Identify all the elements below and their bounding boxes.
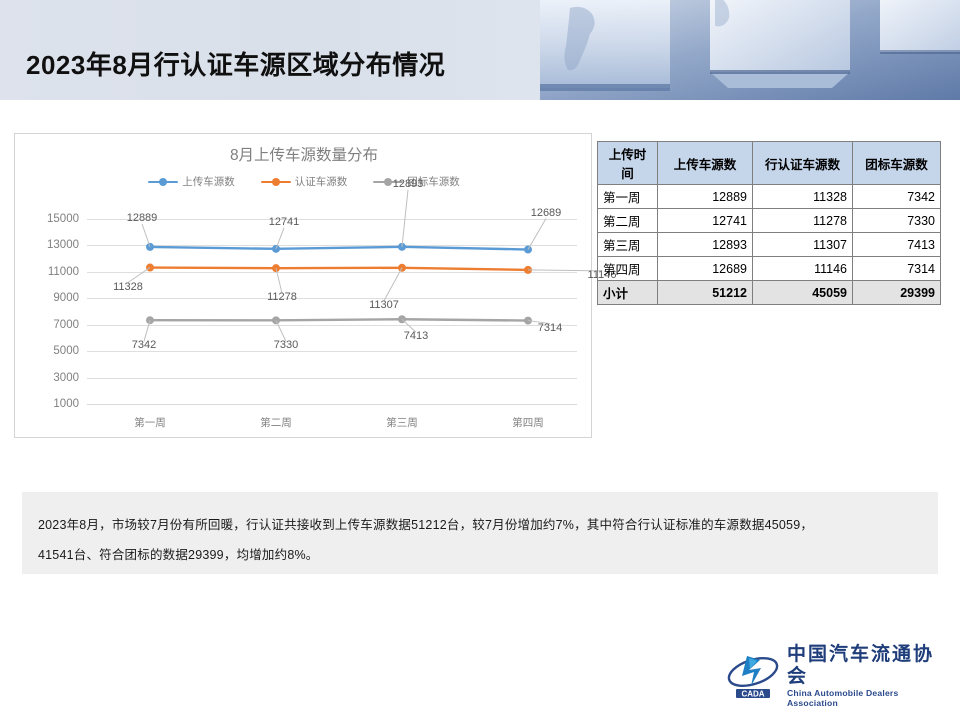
data-label-leader-line bbox=[144, 320, 150, 341]
chart-x-axis-line bbox=[87, 404, 577, 405]
data-label: 12741 bbox=[269, 216, 300, 228]
table-cell-cert: 11328 bbox=[753, 185, 853, 209]
table-cell-week: 第二周 bbox=[598, 209, 658, 233]
cada-logo-en: China Automobile Dealers Association bbox=[787, 688, 939, 709]
table-cell-upload: 12689 bbox=[658, 257, 753, 281]
table-total-group: 29399 bbox=[853, 281, 941, 305]
blue-cubes-world-map-image bbox=[540, 0, 960, 100]
legend-marker-upload-icon bbox=[148, 177, 178, 187]
data-label: 12893 bbox=[393, 178, 424, 190]
data-label: 11328 bbox=[113, 281, 143, 293]
table-total-row: 小计512124505929399 bbox=[598, 281, 941, 305]
y-axis-tick-label: 9000 bbox=[53, 292, 79, 304]
data-label-leader-line bbox=[276, 228, 284, 249]
table-cell-cert: 11278 bbox=[753, 209, 853, 233]
cada-mark-svg: CADA bbox=[727, 652, 779, 700]
table-header-cert: 行认证车源数 bbox=[753, 142, 853, 185]
data-label-leader-line bbox=[384, 268, 402, 301]
table-cell-week: 第四周 bbox=[598, 257, 658, 281]
cada-logo: CADA 中国汽车流通协会 China Automobile Dealers A… bbox=[727, 650, 939, 702]
summary-note-line-2: 41541台、符合团标的数据29399，均增加约8%。 bbox=[38, 540, 922, 570]
series-point bbox=[272, 245, 280, 253]
cada-logo-text: 中国汽车流通协会 China Automobile Dealers Associ… bbox=[787, 644, 939, 708]
cada-logo-icon: CADA bbox=[727, 652, 779, 700]
table-header-row: 上传时间 上传车源数 行认证车源数 团标车源数 bbox=[598, 142, 941, 185]
legend-label-upload: 上传车源数 bbox=[182, 174, 235, 189]
table-row: 第一周12889113287342 bbox=[598, 185, 941, 209]
table-cell-upload: 12893 bbox=[658, 233, 753, 257]
table-cell-group: 7330 bbox=[853, 209, 941, 233]
table-row: 第二周12741112787330 bbox=[598, 209, 941, 233]
data-label: 11278 bbox=[267, 291, 297, 303]
series-line bbox=[150, 247, 528, 250]
table-body: 第一周12889113287342第二周12741112787330第三周128… bbox=[598, 185, 941, 305]
y-axis-tick-label: 11000 bbox=[48, 266, 79, 278]
data-label-leader-line bbox=[402, 190, 408, 247]
series-point bbox=[398, 264, 406, 272]
chart-panel: 8月上传车源数量分布 上传车源数 认证车源数 团标车源数 15000130001… bbox=[14, 133, 592, 438]
header-band: 2023年8月行认证车源区域分布情况 bbox=[0, 0, 960, 100]
data-label: 7330 bbox=[274, 339, 298, 351]
x-axis-tick-label: 第一周 bbox=[134, 415, 166, 430]
table-total-upload: 51212 bbox=[658, 281, 753, 305]
data-label: 7342 bbox=[132, 339, 156, 351]
legend-marker-cert-icon bbox=[261, 177, 291, 187]
table-header-upload: 上传车源数 bbox=[658, 142, 753, 185]
table-row: 第四周12689111467314 bbox=[598, 257, 941, 281]
table-row: 第三周12893113077413 bbox=[598, 233, 941, 257]
cada-logo-cn: 中国汽车流通协会 bbox=[787, 644, 939, 688]
legend-item-cert[interactable]: 认证车源数 bbox=[261, 174, 348, 189]
data-label: 7314 bbox=[538, 322, 562, 334]
table-total-cert: 45059 bbox=[753, 281, 853, 305]
summary-note-line-1: 2023年8月，市场较7月份有所回暖，行认证共接收到上传车源数据51212台，较… bbox=[38, 510, 922, 540]
data-label: 12889 bbox=[127, 212, 158, 224]
table-cell-group: 7314 bbox=[853, 257, 941, 281]
table-cell-cert: 11146 bbox=[753, 257, 853, 281]
data-label-leader-line bbox=[276, 320, 286, 341]
table-cell-week: 第三周 bbox=[598, 233, 658, 257]
x-axis-tick-label: 第三周 bbox=[386, 415, 418, 430]
svg-text:CADA: CADA bbox=[741, 690, 764, 699]
series-point bbox=[272, 264, 280, 272]
data-label: 11307 bbox=[369, 299, 399, 311]
table-cell-week: 第一周 bbox=[598, 185, 658, 209]
y-axis-tick-label: 5000 bbox=[53, 345, 79, 357]
chart-series-svg bbox=[87, 219, 577, 414]
chart-plot-area: 15000130001100090007000500030001000 1288… bbox=[87, 219, 577, 507]
series-line bbox=[150, 268, 528, 270]
y-axis-tick-label: 3000 bbox=[53, 372, 79, 384]
legend-item-upload[interactable]: 上传车源数 bbox=[148, 174, 235, 189]
page-title: 2023年8月行认证车源区域分布情况 bbox=[26, 45, 445, 82]
x-axis-tick-label: 第二周 bbox=[260, 415, 292, 430]
series-line bbox=[150, 319, 528, 320]
y-axis-tick-label: 15000 bbox=[47, 213, 79, 225]
table-total-label: 小计 bbox=[598, 281, 658, 305]
table-cell-upload: 12889 bbox=[658, 185, 753, 209]
data-label: 12689 bbox=[531, 207, 562, 219]
y-axis-tick-label: 7000 bbox=[53, 319, 79, 331]
table-header-group: 团标车源数 bbox=[853, 142, 941, 185]
data-label-leader-line bbox=[276, 268, 282, 293]
table-cell-cert: 11307 bbox=[753, 233, 853, 257]
y-axis-tick-label: 13000 bbox=[47, 239, 79, 251]
decor-svg bbox=[540, 0, 960, 100]
table-cell-group: 7413 bbox=[853, 233, 941, 257]
data-label: 7413 bbox=[404, 330, 428, 342]
table-cell-upload: 12741 bbox=[658, 209, 753, 233]
chart-title: 8月上传车源数量分布 bbox=[15, 143, 593, 165]
summary-note-box: 2023年8月，市场较7月份有所回暖，行认证共接收到上传车源数据51212台，较… bbox=[22, 492, 938, 574]
x-axis-tick-label: 第四周 bbox=[512, 415, 544, 430]
y-axis-tick-label: 1000 bbox=[53, 398, 79, 410]
table-header-time: 上传时间 bbox=[598, 142, 658, 185]
data-table: 上传时间 上传车源数 行认证车源数 团标车源数 第一周1288911328734… bbox=[597, 141, 941, 305]
data-label-leader-line bbox=[528, 219, 546, 250]
table-cell-group: 7342 bbox=[853, 185, 941, 209]
legend-label-cert: 认证车源数 bbox=[295, 174, 348, 189]
chart-legend: 上传车源数 认证车源数 团标车源数 bbox=[15, 174, 593, 189]
data-label-leader-line bbox=[142, 224, 150, 247]
